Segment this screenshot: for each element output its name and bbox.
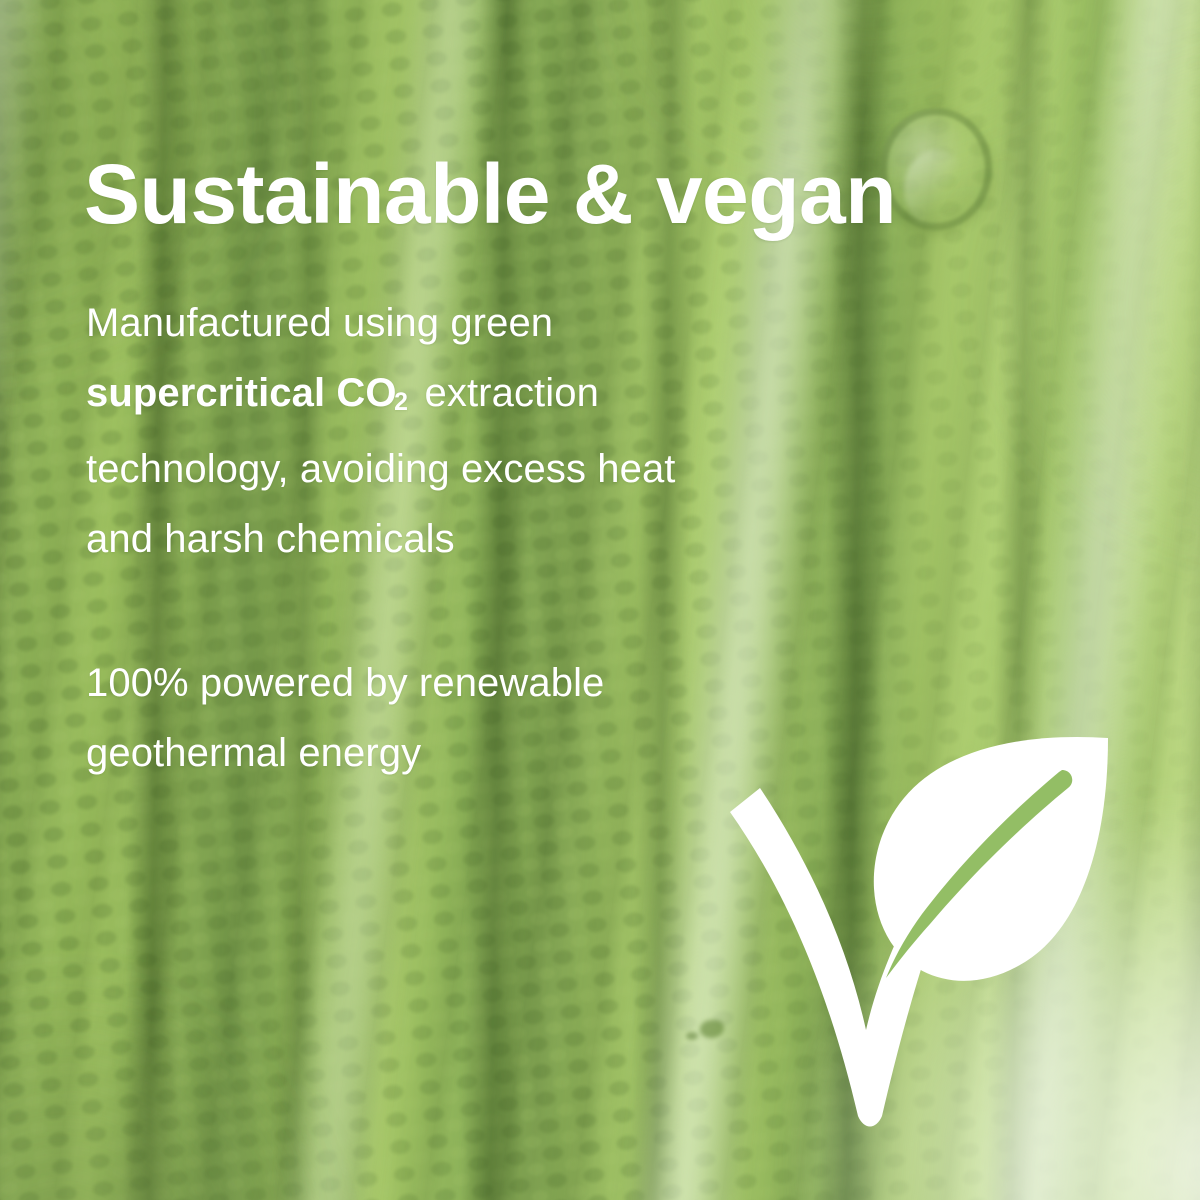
paragraph-extraction-line-3: technology, avoiding excess heat [86, 447, 676, 491]
co2-subscript: 2 [394, 389, 408, 416]
paragraph-extraction: Manufactured using green supercritical C… [86, 288, 846, 574]
vegan-leaf-icon [716, 716, 1120, 1136]
content-layer: Sustainable & vegan Manufactured using g… [0, 0, 1200, 1200]
vegan-leaf-icon-shape [730, 737, 1108, 1127]
paragraph-energy-line-1: 100% powered by renewable [86, 661, 604, 705]
paragraph-energy-line-2: geothermal energy [86, 731, 421, 775]
paragraph-energy: 100% powered by renewable geothermal ene… [86, 648, 786, 788]
page-title: Sustainable & vegan [84, 152, 896, 236]
paragraph-extraction-line-1: Manufactured using green [86, 301, 553, 345]
paragraph-extraction-after-bold: extraction [425, 371, 599, 415]
co2-label: supercritical CO [86, 371, 397, 415]
paragraph-extraction-bold-term: supercritical CO2 [86, 371, 411, 415]
paragraph-extraction-line-4: and harsh chemicals [86, 517, 455, 561]
sustainable-vegan-card: Sustainable & vegan Manufactured using g… [0, 0, 1200, 1200]
